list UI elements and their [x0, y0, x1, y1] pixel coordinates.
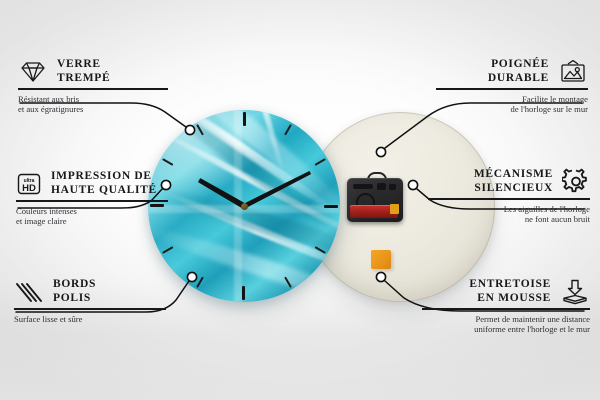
feature-impression-sub2: et image claire: [16, 216, 168, 227]
feature-poignee-rule: [436, 88, 588, 90]
feature-impression-sub1: Couleurs intenses: [16, 206, 168, 217]
arrow-down-plate-icon: [560, 279, 590, 305]
feature-impression: ultra HD IMPRESSION DE HAUTE QUALITÉ Cou…: [16, 170, 168, 227]
feature-poignee-header: POIGNÉE DURABLE: [436, 58, 588, 85]
feature-bords-title: BORDS POLIS: [53, 278, 96, 305]
feature-verre-title: VERRE TREMPÉ: [57, 58, 110, 85]
feature-entretoise-header: ENTRETOISE EN MOUSSE: [422, 278, 590, 305]
svg-text:HD: HD: [22, 183, 36, 194]
feature-poignee-sub1: Facilite le montage: [436, 94, 588, 105]
feature-mecanisme-sub1: Les aiguilles de l'horloge: [428, 204, 590, 215]
feature-entretoise-rule: [422, 308, 590, 310]
feature-verre-rule: [18, 88, 168, 90]
feature-impression-title: IMPRESSION DE HAUTE QUALITÉ: [51, 170, 157, 197]
infographic-canvas: VERRE TREMPÉ Résistant aux bris et aux é…: [0, 0, 600, 400]
feature-bords-rule: [14, 308, 166, 310]
feature-entretoise-mousse: ENTRETOISE EN MOUSSE Permet de maintenir…: [422, 278, 590, 335]
feature-entretoise-title: ENTRETOISE EN MOUSSE: [469, 278, 551, 305]
feature-mecanisme-header: MÉCANISME SILENCIEUX: [428, 168, 590, 195]
diamond-icon: [18, 60, 48, 84]
feature-verre-header: VERRE TREMPÉ: [18, 58, 168, 85]
feature-bords-header: BORDS POLIS: [14, 278, 166, 305]
picture-hanger-icon: [558, 59, 588, 85]
feature-poignee-title: POIGNÉE DURABLE: [488, 58, 549, 85]
feature-poignee-sub2: de l'horloge sur le mur: [436, 104, 588, 115]
gear-icon: [562, 168, 590, 195]
feature-mecanisme-title: MÉCANISME SILENCIEUX: [474, 168, 553, 195]
diagonal-lines-icon: [14, 280, 44, 304]
feature-verre-trempe: VERRE TREMPÉ Résistant aux bris et aux é…: [18, 58, 168, 115]
feature-verre-sub1: Résistant aux bris: [18, 94, 168, 105]
feature-entretoise-sub2: uniforme entre l'horloge et le mur: [422, 324, 590, 335]
feature-entretoise-sub1: Permet de maintenir une distance: [422, 314, 590, 325]
feature-verre-sub2: et aux égratignures: [18, 104, 168, 115]
ultra-hd-badge-icon: ultra HD: [16, 172, 42, 196]
feature-bords-sub1: Surface lisse et sûre: [14, 314, 166, 325]
feature-impression-rule: [16, 200, 168, 202]
feature-impression-header: ultra HD IMPRESSION DE HAUTE QUALITÉ: [16, 170, 168, 197]
feature-mecanisme-silencieux: MÉCANISME SILENCIEUX Les aiguilles de l'…: [428, 168, 590, 225]
feature-bords-polis: BORDS POLIS Surface lisse et sûre: [14, 278, 166, 324]
feature-mecanisme-rule: [428, 198, 590, 200]
feature-mecanisme-sub2: ne font aucun bruit: [428, 214, 590, 225]
feature-poignee-durable: POIGNÉE DURABLE Facilite le montage de l…: [436, 58, 588, 115]
